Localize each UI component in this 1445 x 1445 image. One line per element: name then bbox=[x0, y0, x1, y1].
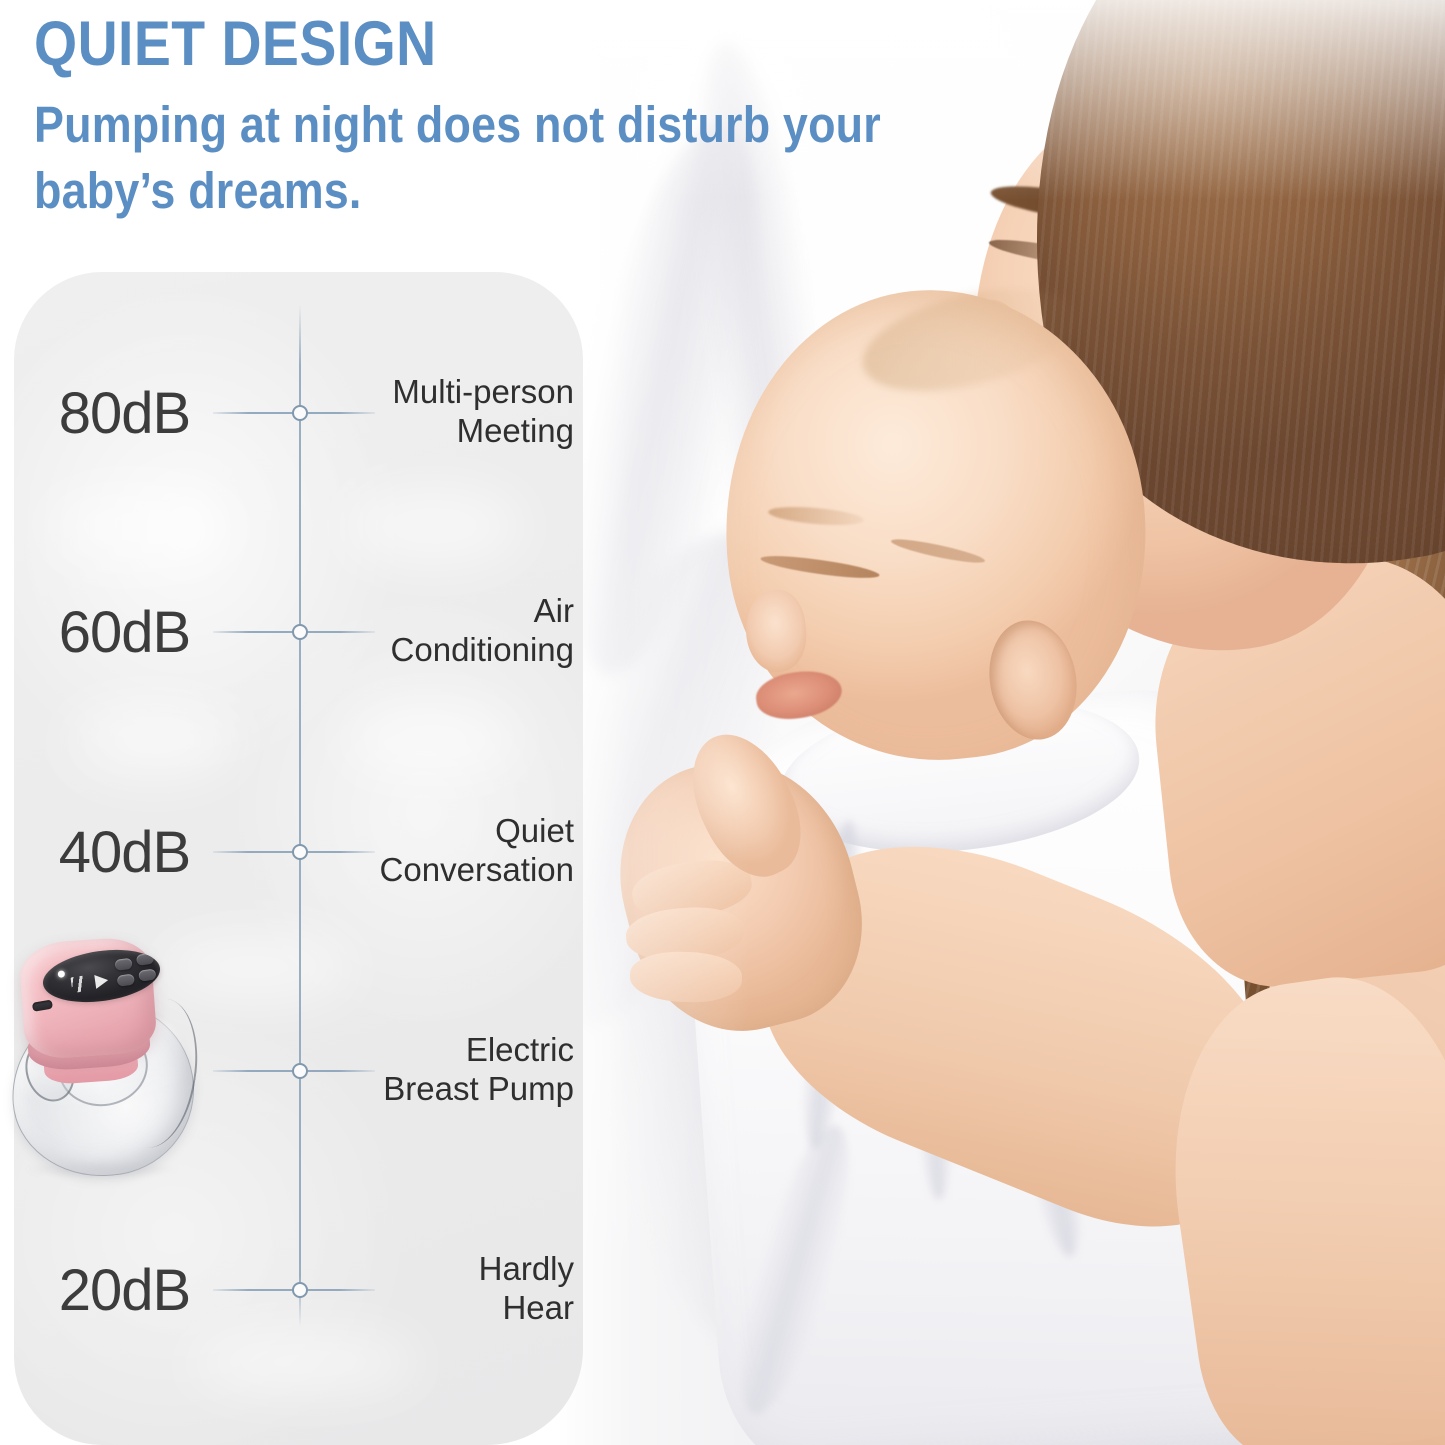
display-screen bbox=[40, 943, 164, 1009]
scale-row-label: Electric Breast Pump bbox=[369, 1031, 574, 1108]
scale-node-marker bbox=[292, 1282, 308, 1298]
scale-row-label: Air Conditioning bbox=[369, 592, 574, 669]
db-value: 60dB bbox=[42, 596, 207, 668]
page-subtitle: Pumping at night does not disturb your b… bbox=[34, 92, 879, 225]
db-value: 40dB bbox=[42, 816, 207, 888]
charging-port-icon bbox=[32, 1000, 53, 1012]
scale-axis-line bbox=[299, 304, 301, 1327]
scale-node-marker bbox=[292, 405, 308, 421]
label-line-1: Electric bbox=[369, 1031, 574, 1070]
scale-row-label: Multi-person Meeting bbox=[369, 373, 574, 450]
scale-row-label: Quiet Conversation bbox=[369, 812, 574, 889]
scale-node-marker bbox=[292, 1063, 308, 1079]
scale-row-label: Hardly Hear bbox=[369, 1250, 574, 1327]
subtitle-line-2: baby’s dreams. bbox=[34, 158, 879, 224]
noise-scale-panel: 80dB Multi-person Meeting 60dB Air Condi… bbox=[14, 272, 583, 1445]
db-value: 20dB bbox=[42, 1254, 207, 1326]
panel-gloss bbox=[69, 702, 239, 780]
headline-block: QUIET DESIGN Pumping at night does not d… bbox=[34, 12, 994, 224]
power-led-icon bbox=[57, 970, 65, 978]
panel-gloss bbox=[344, 487, 524, 565]
panel-gloss bbox=[344, 702, 519, 777]
label-line-2: Meeting bbox=[369, 412, 574, 451]
panel-gloss bbox=[49, 487, 239, 567]
label-line-1: Hardly bbox=[369, 1250, 574, 1289]
breast-pump-product-image bbox=[6, 932, 202, 1184]
subtitle-line-1: Pumping at night does not disturb your bbox=[34, 92, 879, 158]
label-line-2: Conditioning bbox=[369, 631, 574, 670]
page-title: QUIET DESIGN bbox=[34, 12, 879, 78]
minus-button[interactable] bbox=[117, 974, 135, 987]
plus-button[interactable] bbox=[138, 968, 156, 981]
label-line-1: Multi-person bbox=[369, 373, 574, 412]
label-line-1: Air bbox=[369, 592, 574, 631]
power-button[interactable] bbox=[136, 953, 154, 966]
label-line-2: Conversation bbox=[369, 851, 574, 890]
infographic-root: QUIET DESIGN Pumping at night does not d… bbox=[0, 0, 1445, 1445]
scale-node-marker bbox=[292, 624, 308, 640]
label-line-2: Breast Pump bbox=[369, 1070, 574, 1109]
motor-housing bbox=[18, 936, 158, 1061]
panel-gloss bbox=[189, 1332, 419, 1392]
mode-button[interactable] bbox=[114, 958, 132, 971]
label-line-1: Quiet bbox=[369, 812, 574, 851]
scale-node-marker bbox=[292, 844, 308, 860]
label-line-2: Hear bbox=[369, 1289, 574, 1328]
play-triangle-icon bbox=[94, 973, 109, 989]
db-value: 80dB bbox=[42, 377, 207, 449]
